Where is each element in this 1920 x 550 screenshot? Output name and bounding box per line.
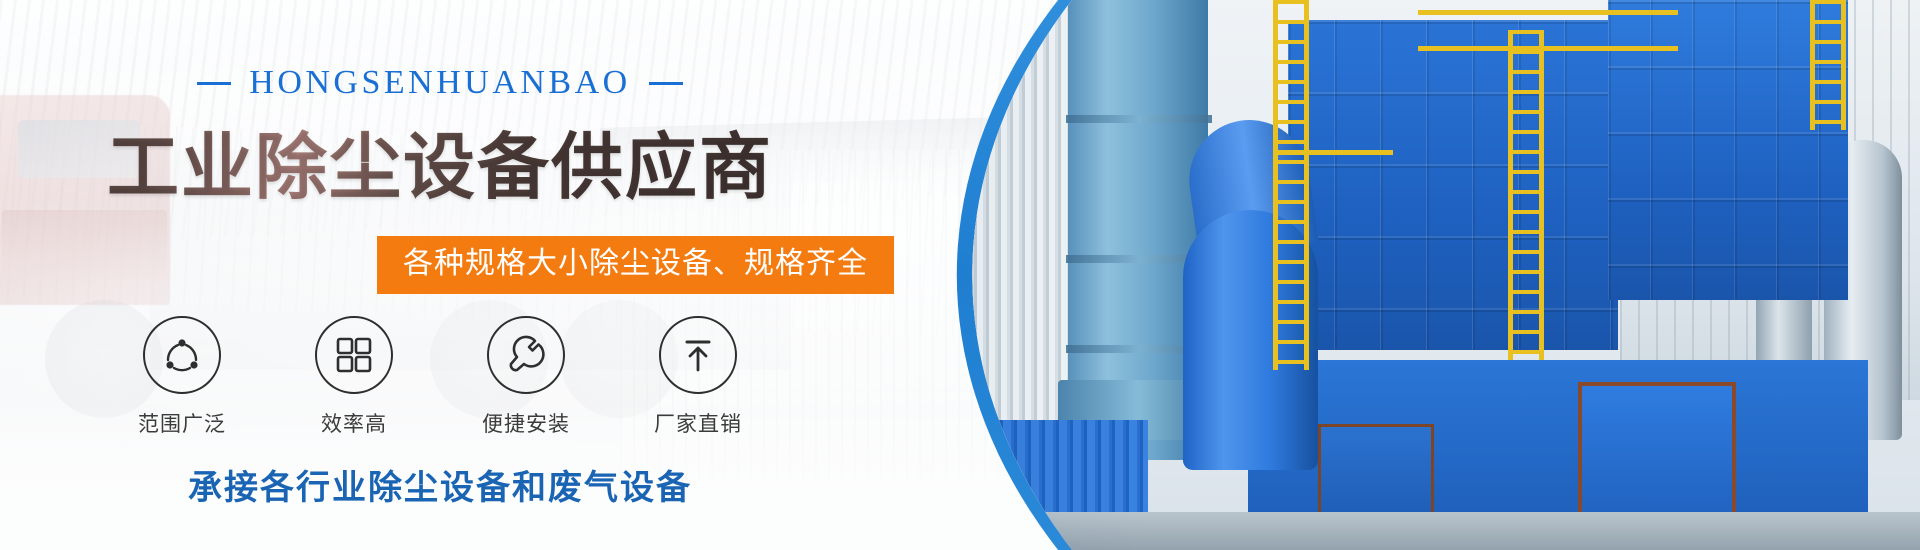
photo-yellow-ladder (1810, 0, 1846, 130)
hero-copy-block: HONGSENHUANBAO 工业除尘设备供应商 各种规格大小除尘设备、规格齐全 (0, 0, 900, 550)
feature-label: 范围广泛 (127, 408, 237, 438)
feature-item-range[interactable]: 范围广泛 (127, 316, 237, 438)
photo-yellow-handrail (1273, 150, 1393, 155)
photo-yellow-ladder (1508, 30, 1544, 360)
photo-ground (818, 512, 1920, 550)
hero-photo-panel (800, 0, 1920, 550)
photo-yellow-handrail (1418, 10, 1678, 15)
feature-label: 便捷安装 (471, 408, 581, 438)
eyebrow-text: HONGSENHUANBAO (249, 64, 630, 102)
photo-yellow-handrail (1418, 46, 1678, 51)
tagline: 承接各行业除尘设备和废气设备 (0, 460, 880, 509)
page-title: 工业除尘设备供应商 (0, 108, 880, 213)
eyebrow-dash-right (649, 82, 683, 85)
eyebrow-dash-left (197, 82, 231, 85)
photo-stack-band (1066, 115, 1212, 123)
wrench-icon (487, 316, 565, 394)
feature-list: 范围广泛 效率高 (0, 316, 880, 438)
feature-label: 厂家直销 (643, 408, 753, 438)
feature-label: 效率高 (299, 408, 409, 438)
hero-banner: HONGSENHUANBAO 工业除尘设备供应商 各种规格大小除尘设备、规格齐全 (0, 0, 1920, 550)
feature-item-installation[interactable]: 便捷安装 (471, 316, 581, 438)
grid-squares-icon (315, 316, 393, 394)
feature-item-direct-sales[interactable]: 厂家直销 (643, 316, 753, 438)
feature-item-efficiency[interactable]: 效率高 (299, 316, 409, 438)
photo-baghouse-unit (1288, 20, 1618, 350)
photo-yellow-ladder (1273, 0, 1309, 370)
network-nodes-icon (143, 316, 221, 394)
brand-eyebrow: HONGSENHUANBAO (0, 64, 880, 102)
up-arrow-bar-icon (659, 316, 737, 394)
subtitle-badge: 各种规格大小除尘设备、规格齐全 (377, 236, 894, 294)
dust-collector-photo (818, 0, 1920, 550)
